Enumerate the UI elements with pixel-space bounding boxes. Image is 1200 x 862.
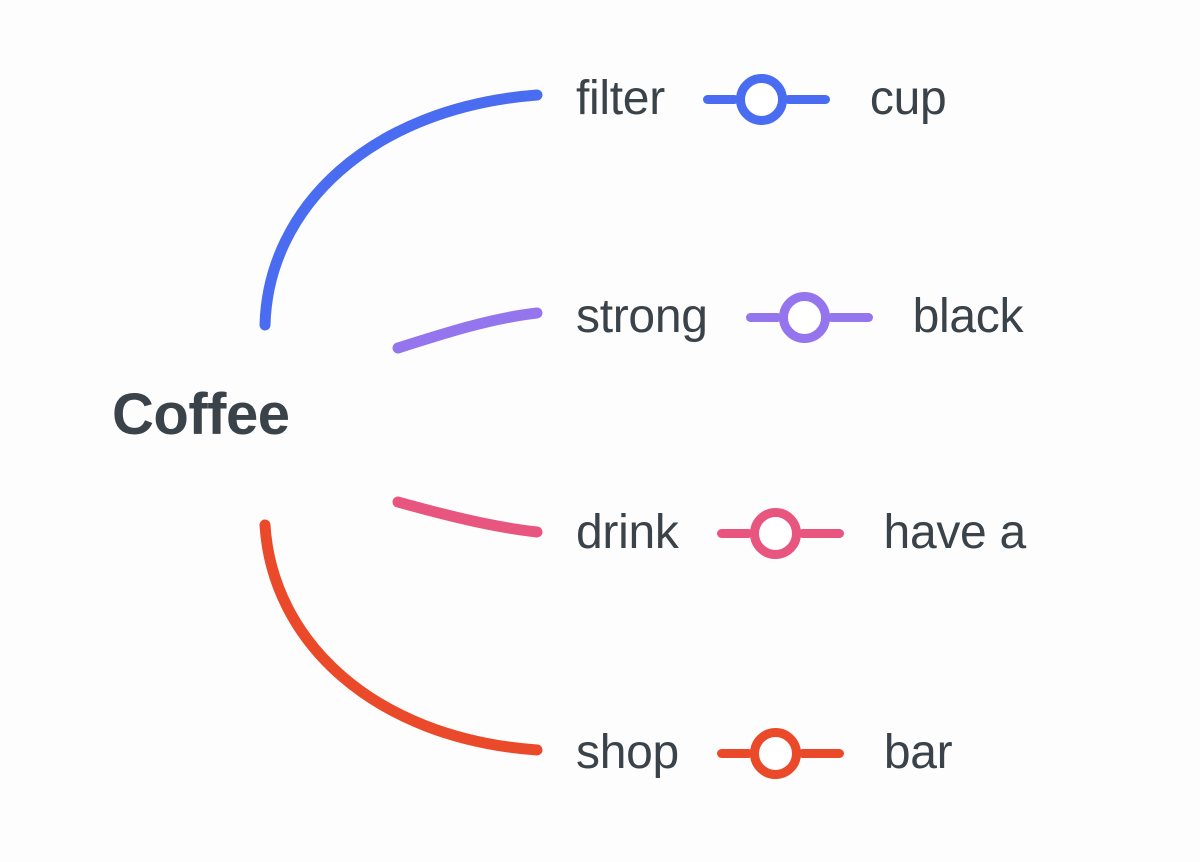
collocate-label-drink: drink xyxy=(576,509,679,557)
connector-ring xyxy=(750,508,801,559)
ring-connector-icon xyxy=(703,75,830,123)
partner-label-cup: cup xyxy=(870,75,947,123)
branch-curve-filter xyxy=(265,95,537,325)
association-row-drink: drink have a xyxy=(576,498,1026,568)
connector-bar-right xyxy=(798,529,844,538)
association-row-strong: strong black xyxy=(576,282,1023,352)
collocate-label-strong: strong xyxy=(576,293,708,341)
partner-label-black: black xyxy=(913,293,1024,341)
connector-bar-left xyxy=(703,95,739,104)
association-row-filter: filter cup xyxy=(576,64,946,134)
page-title: Coffee xyxy=(112,386,289,444)
ring-connector-icon xyxy=(717,729,844,777)
collocate-label-filter: filter xyxy=(576,75,665,123)
partner-label-have-a: have a xyxy=(884,509,1026,557)
branch-curve-drink xyxy=(398,502,537,532)
connector-ring xyxy=(779,292,830,343)
connector-bar-right xyxy=(784,95,830,104)
ring-connector-icon xyxy=(717,509,844,557)
branch-curve-shop xyxy=(265,525,537,750)
partner-label-bar: bar xyxy=(884,729,952,777)
connector-bar-left xyxy=(717,529,753,538)
connector-bar-right xyxy=(827,313,873,322)
branch-curve-strong xyxy=(398,313,537,348)
connector-bar-right xyxy=(798,749,844,758)
connector-ring xyxy=(750,728,801,779)
connector-bar-left xyxy=(717,749,753,758)
diagram-canvas: Coffee filter cup strong black drink hav… xyxy=(0,0,1200,862)
connector-bar-left xyxy=(746,313,782,322)
association-row-shop: shop bar xyxy=(576,718,952,788)
collocate-label-shop: shop xyxy=(576,729,679,777)
ring-connector-icon xyxy=(746,293,873,341)
connector-ring xyxy=(736,74,787,125)
